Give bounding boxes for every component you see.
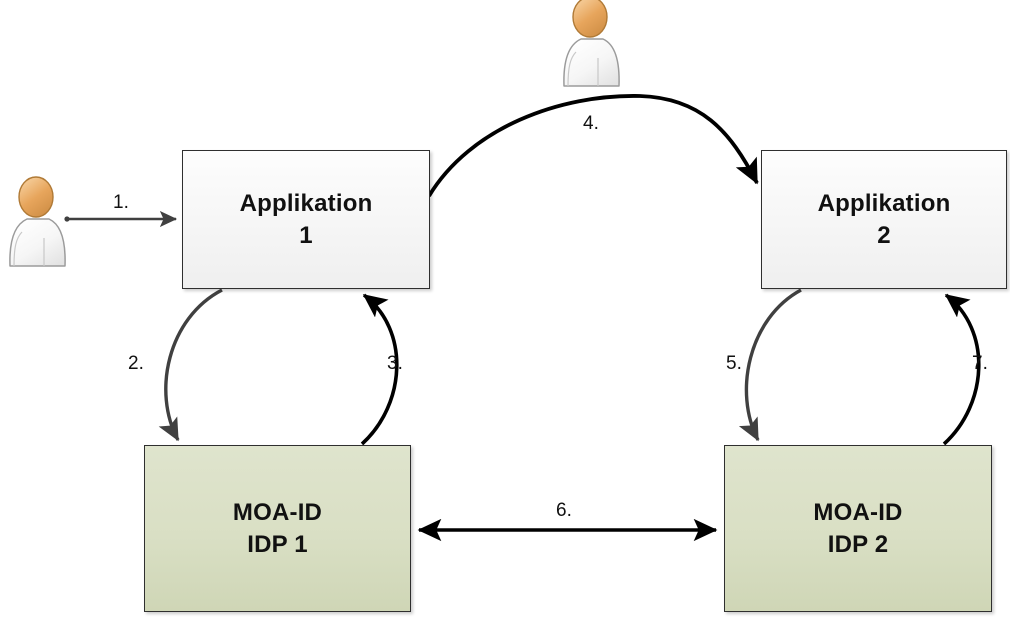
node-moa-id-idp-2-line1: MOA-ID <box>813 497 902 529</box>
step-label-5: 5. <box>726 353 742 375</box>
step-label-2: 2. <box>128 353 144 375</box>
node-application-1-line1: Applikation <box>240 188 373 220</box>
node-moa-id-idp-1-line1: MOA-ID <box>233 497 322 529</box>
node-application-1-line2: 1 <box>299 220 313 252</box>
connector-step-2 <box>166 290 222 440</box>
user-figure-left-icon <box>10 177 65 266</box>
node-application-2[interactable]: Applikation 2 <box>761 150 1007 289</box>
node-application-1[interactable]: Applikation 1 <box>182 150 430 289</box>
node-moa-id-idp-2[interactable]: MOA-ID IDP 2 <box>724 445 992 612</box>
node-moa-id-idp-1[interactable]: MOA-ID IDP 1 <box>144 445 411 612</box>
connector-step-5 <box>746 290 801 440</box>
connector-step-4 <box>429 96 757 196</box>
step-label-3: 3. <box>387 353 403 375</box>
diagram-canvas: Applikation 1 Applikation 2 MOA-ID IDP 1… <box>0 0 1010 618</box>
connector-step-1 <box>64 216 176 221</box>
step-label-1: 1. <box>113 192 129 214</box>
user-figure-top-icon <box>564 0 619 86</box>
step-label-6: 6. <box>556 500 572 522</box>
node-application-2-line2: 2 <box>877 220 891 252</box>
node-moa-id-idp-1-line2: IDP 1 <box>247 529 308 561</box>
node-moa-id-idp-2-line2: IDP 2 <box>828 529 889 561</box>
step-label-7: 7. <box>972 353 988 375</box>
node-application-2-line1: Applikation <box>818 188 951 220</box>
step-label-4: 4. <box>583 113 599 135</box>
